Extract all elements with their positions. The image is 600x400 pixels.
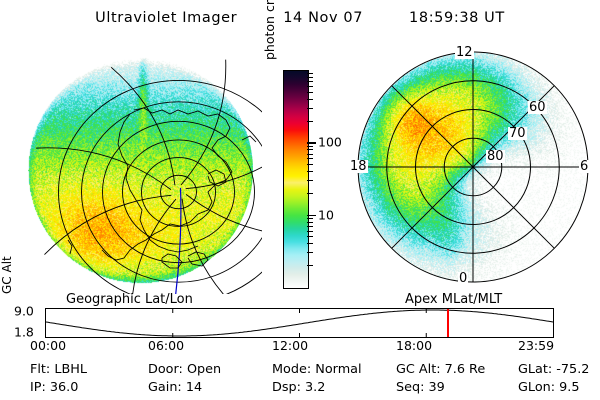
status-label: Seq: <box>396 380 429 395</box>
apex-mlt-panel[interactable]: 12 6 0 18 60 70 80 <box>348 44 592 294</box>
mlat-label-60: 60 <box>528 101 547 114</box>
colorbar-label-photon: photon cm <box>262 0 277 60</box>
colorbar-tick-label-10: 10 <box>318 207 334 222</box>
current-time-marker <box>447 309 449 337</box>
coastline-overlay <box>12 44 262 294</box>
status-label: Mode: <box>272 362 315 377</box>
observation-time: 18:59:38 UT <box>409 10 505 26</box>
status-row: Flt: LBHLDoor: OpenMode: NormalGC Alt: 7… <box>0 362 600 380</box>
status-field-gain: Gain: 14 <box>148 380 202 395</box>
status-label: Door: <box>148 362 187 377</box>
status-value: 7.6 Re <box>445 362 486 377</box>
mlt-label-18: 18 <box>349 160 368 173</box>
status-field-glat: GLat: -75.2 <box>518 362 589 377</box>
status-value: 14 <box>186 380 202 395</box>
geographic-panel-title: Geographic Lat/Lon <box>66 292 193 307</box>
status-label: GLat: <box>518 362 556 377</box>
status-field-seq: Seq: 39 <box>396 380 445 395</box>
status-value: 9.5 <box>559 380 579 395</box>
status-value: Normal <box>315 362 361 377</box>
status-value: LBHL <box>54 362 87 377</box>
status-field-door: Door: Open <box>148 362 221 377</box>
orbit-altitude-trace <box>46 309 553 337</box>
colorbar-ticks <box>307 70 315 287</box>
status-field-dsp: Dsp: 3.2 <box>272 380 325 395</box>
colorbar-panel: photon cm-2s-1 10100 <box>262 60 354 295</box>
colorbar-tick-label-100: 100 <box>318 135 342 150</box>
observation-date: 14 Nov 07 <box>283 10 363 26</box>
header-bar: Ultraviolet Imager 14 Nov 07 18:59:38 UT <box>0 6 600 30</box>
orbit-track-panel[interactable]: GC Alt 9.0 1.8 Geographic Lat/Lon Apex M… <box>0 294 600 350</box>
status-label: Gain: <box>148 380 186 395</box>
orbit-xtick-0: 00:00 <box>30 338 66 353</box>
status-value: Open <box>187 362 221 377</box>
status-label: Flt: <box>30 362 54 377</box>
apex-panel-title: Apex MLat/MLT <box>405 292 502 307</box>
status-row: IP: 36.0Gain: 14Dsp: 3.2Seq: 39GLon: 9.5 <box>0 380 600 398</box>
colorbar-axis-label: photon cm-2s-1 <box>262 0 277 60</box>
mlt-label-6: 6 <box>579 160 589 173</box>
status-value: -75.2 <box>556 362 589 377</box>
status-field-ip: IP: 36.0 <box>30 380 78 395</box>
status-value: 36.0 <box>50 380 79 395</box>
orbit-y-axis-label: GC Alt <box>0 248 14 294</box>
orbit-xtick-1: 06:00 <box>148 338 184 353</box>
geographic-image-panel[interactable] <box>12 44 262 294</box>
instrument-title: Ultraviolet Imager <box>95 10 237 26</box>
status-block: Flt: LBHLDoor: OpenMode: NormalGC Alt: 7… <box>0 360 600 400</box>
mlat-label-70: 70 <box>508 127 527 140</box>
status-label: GLon: <box>518 380 559 395</box>
status-label: Dsp: <box>272 380 305 395</box>
status-field-flt: Flt: LBHL <box>30 362 87 377</box>
status-label: GC Alt: <box>396 362 445 377</box>
status-value: 39 <box>429 380 445 395</box>
status-field-glon: GLon: 9.5 <box>518 380 580 395</box>
apex-polar-grid <box>348 44 592 294</box>
status-field-gc-alt: GC Alt: 7.6 Re <box>396 362 485 377</box>
orbit-ytick-top: 9.0 <box>14 304 34 319</box>
orbit-plot-box <box>45 308 554 338</box>
orbit-xtick-3: 18:00 <box>396 338 432 353</box>
orbit-xtick-2: 12:00 <box>272 338 308 353</box>
mlt-label-12: 12 <box>455 46 474 59</box>
status-label: IP: <box>30 380 50 395</box>
status-value: 3.2 <box>305 380 325 395</box>
status-field-mode: Mode: Normal <box>272 362 362 377</box>
mlat-label-80: 80 <box>486 150 505 163</box>
colorbar-gradient <box>283 70 309 289</box>
orbit-xtick-4: 23:59 <box>518 338 554 353</box>
mlt-label-0: 0 <box>458 272 468 285</box>
